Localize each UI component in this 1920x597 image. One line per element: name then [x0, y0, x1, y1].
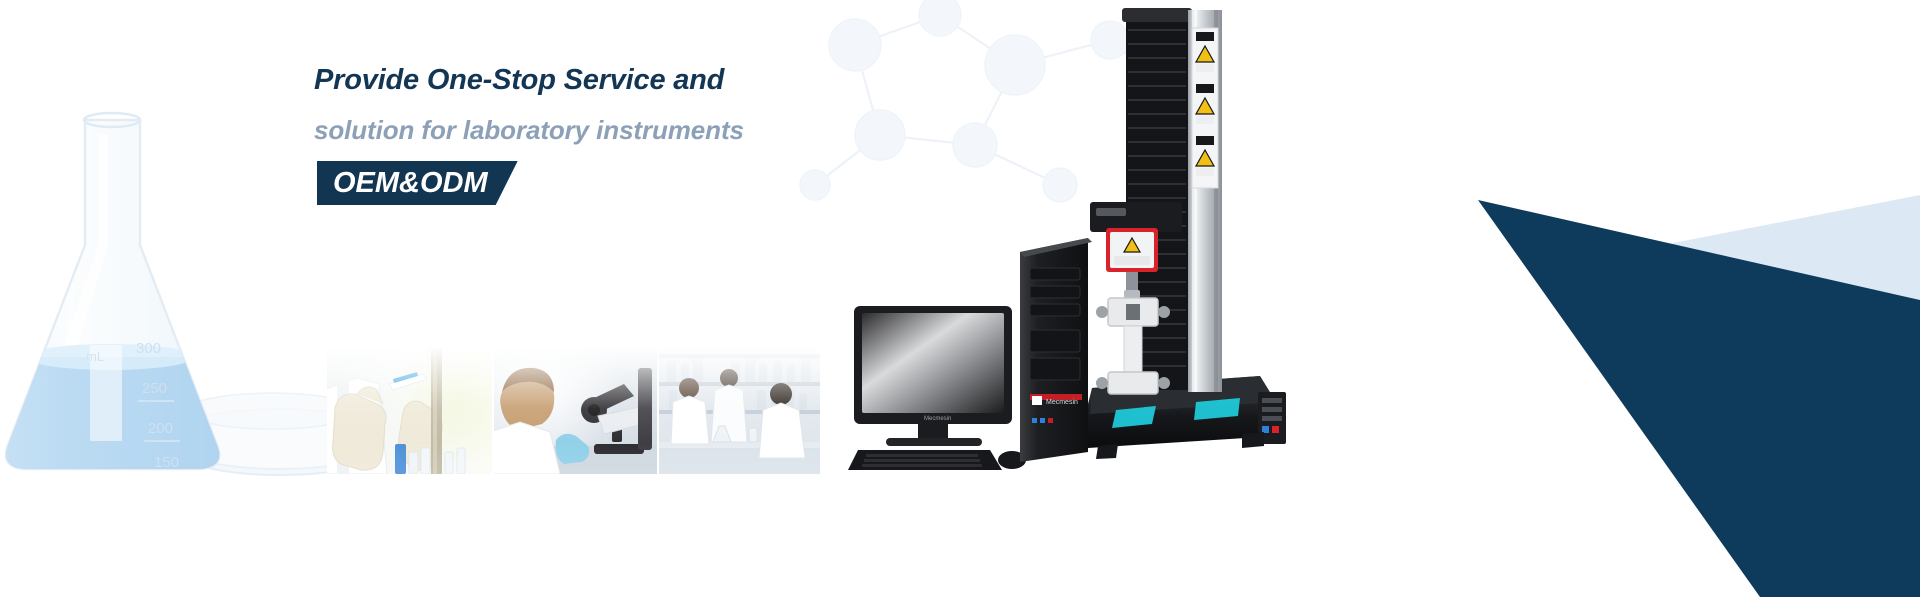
computer-tower-icon: Mecmesin — [1020, 238, 1092, 462]
light-blue-triangle — [1663, 195, 1920, 470]
flask-graduation-250: 250 — [142, 380, 167, 397]
flask-graduation-200: 200 — [148, 420, 173, 437]
desktop-monitor-icon: Mecmesin — [854, 306, 1012, 446]
headline-line-1: Provide One-Stop Service and — [314, 57, 954, 103]
oem-odm-badge: OEM&ODM — [317, 161, 518, 205]
badge-row: OEM&ODM — [314, 161, 954, 205]
svg-text:Mecmesin: Mecmesin — [1046, 399, 1078, 406]
photo-strip — [327, 348, 820, 474]
universal-testing-machine-icon — [1088, 8, 1286, 459]
warning-triangle-icon — [1196, 84, 1214, 124]
photo-scientist-microscope — [494, 348, 657, 474]
warning-triangle-icon — [1196, 32, 1214, 72]
flask-unit-label: mL — [86, 349, 104, 364]
dark-navy-triangle — [1478, 200, 1920, 597]
flask-graduation-150: 150 — [154, 454, 179, 471]
photo-laboratory-shelves — [659, 348, 820, 474]
headline-block: Provide One-Stop Service and solution fo… — [314, 57, 954, 205]
keyboard-icon — [848, 450, 1002, 470]
corner-triangles-decor — [1200, 0, 1920, 597]
flask-graduation-300: 300 — [136, 340, 161, 357]
mouse-icon — [998, 451, 1026, 469]
photo-gloved-hands-pipette — [327, 348, 492, 474]
warning-triangle-icon — [1196, 136, 1214, 176]
headline-line-2: solution for laboratory instruments — [314, 107, 954, 153]
hero-banner: 300 250 200 150 mL Provide One-Stop Serv… — [0, 0, 1920, 597]
svg-text:Mecmesin: Mecmesin — [924, 416, 951, 422]
